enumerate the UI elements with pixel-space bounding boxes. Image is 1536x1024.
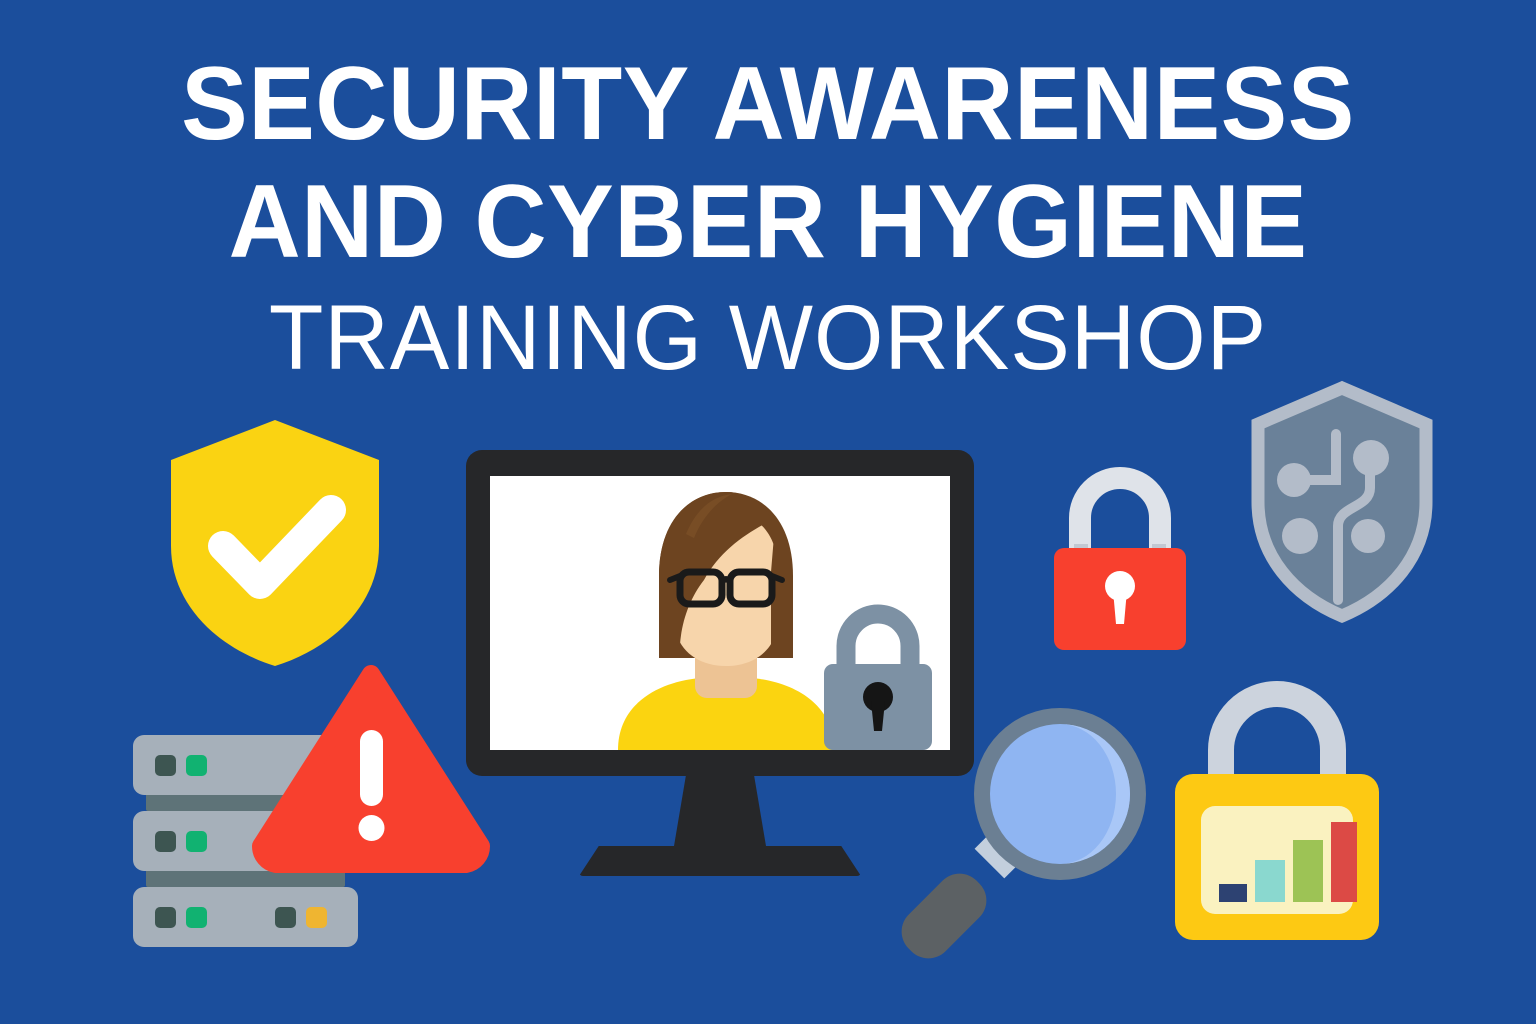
- desktop-monitor: [466, 450, 982, 894]
- padlock-shackle: [1080, 478, 1160, 552]
- server-rack: [133, 887, 358, 947]
- padlock-shackle: [1221, 694, 1333, 784]
- shield-body: [171, 420, 379, 666]
- chart-bar: [1255, 860, 1285, 902]
- monitor-screen: [490, 476, 950, 750]
- circuit-node: [1277, 463, 1311, 497]
- chart-bar: [1293, 840, 1323, 902]
- exclamation-bar: [360, 730, 383, 806]
- server-led-dark: [155, 907, 176, 928]
- warning-triangle-icon: [255, 668, 487, 868]
- title-line-2: AND CYBER HYGIENE: [31, 170, 1506, 274]
- poster-canvas: SECURITY AWARENESS AND CYBER HYGIENE TRA…: [0, 0, 1536, 1024]
- exclamation-dot: [359, 815, 385, 841]
- chart-bar: [1331, 822, 1357, 902]
- padlock-red-icon: [1046, 460, 1194, 655]
- server-led-green: [186, 755, 207, 776]
- title-line-1: SECURITY AWARENESS: [31, 52, 1506, 156]
- chart-bar: [1219, 884, 1247, 902]
- circuit-node: [1282, 518, 1318, 554]
- monitor-bezel: [466, 450, 974, 776]
- monitor-neck: [673, 774, 767, 852]
- padlock-chart-icon: [1163, 688, 1391, 950]
- shield-check-icon: [165, 418, 385, 668]
- monitor-base: [579, 846, 861, 876]
- server-led-amber: [306, 907, 327, 928]
- circuit-node: [1351, 519, 1385, 553]
- page-title: SECURITY AWARENESS AND CYBER HYGIENE TRA…: [0, 52, 1536, 384]
- server-led-dark: [155, 755, 176, 776]
- shield-circuit-icon: [1252, 384, 1432, 620]
- server-led-dark: [155, 831, 176, 852]
- server-led-green: [186, 831, 207, 852]
- server-led-dark: [275, 907, 296, 928]
- server-led-green: [186, 907, 207, 928]
- padlock-shackle: [846, 614, 910, 668]
- title-line-3: TRAINING WORKSHOP: [23, 292, 1513, 384]
- circuit-node: [1353, 440, 1389, 476]
- magnifying-glass-icon: [912, 700, 1154, 940]
